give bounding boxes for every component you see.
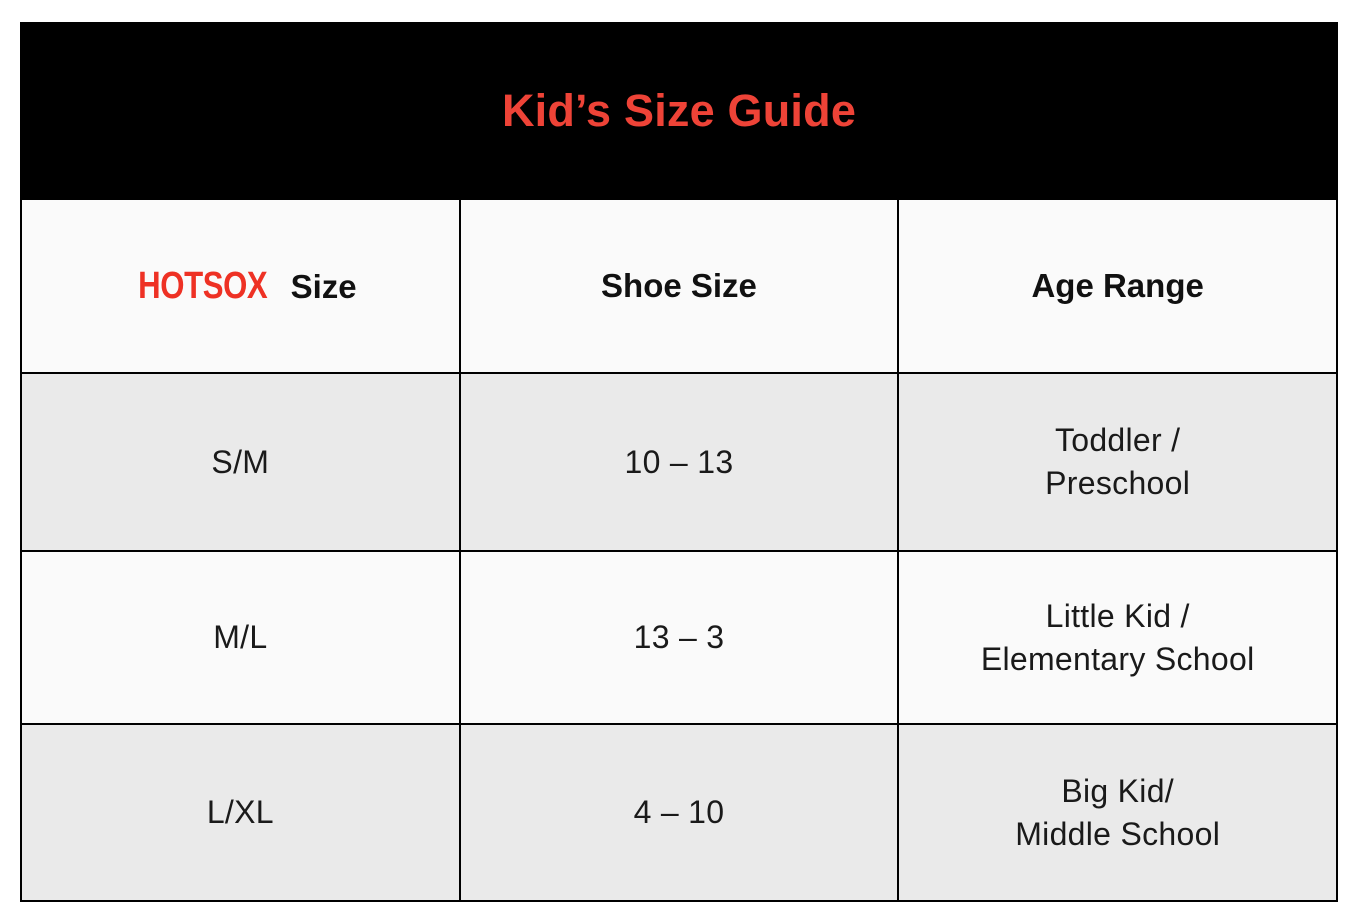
- column-header-hotsox-size-suffix: Size: [281, 268, 356, 305]
- cell-shoe-size: 13 – 3: [460, 551, 899, 724]
- hotsox-wordmark: HOTSOX: [138, 265, 267, 308]
- cell-shoe-size: 4 – 10: [460, 724, 899, 901]
- table-header-row: HOTSOX Size Shoe Size Age Range: [21, 199, 1337, 373]
- cell-shoe-size: 10 – 13: [460, 373, 899, 551]
- cell-age-range-line-1: Little Kid /: [911, 595, 1324, 638]
- title-row: Kid’s Size Guide: [21, 23, 1337, 199]
- cell-age-range: Little Kid / Elementary School: [898, 551, 1337, 724]
- cell-age-range: Toddler / Preschool: [898, 373, 1337, 551]
- column-header-age-range: Age Range: [898, 199, 1337, 373]
- cell-age-range-line-1: Toddler /: [911, 419, 1324, 462]
- table-row: S/M 10 – 13 Toddler / Preschool: [21, 373, 1337, 551]
- title-banner: Kid’s Size Guide: [21, 23, 1337, 199]
- column-header-hotsox-size: HOTSOX Size: [21, 199, 460, 373]
- cell-hotsox-size: M/L: [21, 551, 460, 724]
- cell-hotsox-size: L/XL: [21, 724, 460, 901]
- table-row: L/XL 4 – 10 Big Kid/ Middle School: [21, 724, 1337, 901]
- cell-age-range-line-2: Preschool: [911, 462, 1324, 505]
- page-title: Kid’s Size Guide: [502, 85, 856, 136]
- cell-age-range: Big Kid/ Middle School: [898, 724, 1337, 901]
- cell-age-range-line-2: Middle School: [911, 813, 1324, 856]
- kids-size-guide-table: Kid’s Size Guide HOTSOX Size Shoe Size A…: [20, 22, 1338, 902]
- table-row: M/L 13 – 3 Little Kid / Elementary Schoo…: [21, 551, 1337, 724]
- column-header-shoe-size: Shoe Size: [460, 199, 899, 373]
- cell-hotsox-size: S/M: [21, 373, 460, 551]
- size-guide-page: Kid’s Size Guide HOTSOX Size Shoe Size A…: [0, 0, 1358, 912]
- cell-age-range-line-1: Big Kid/: [911, 770, 1324, 813]
- cell-age-range-line-2: Elementary School: [911, 638, 1324, 681]
